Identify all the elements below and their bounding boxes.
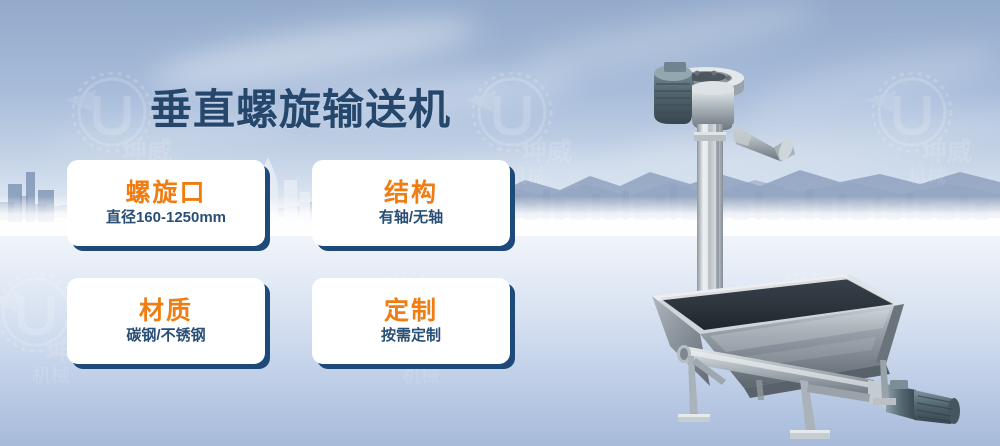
card-face: 定制 按需定制 [312, 278, 510, 364]
card-face: 结构 有轴/无轴 [312, 160, 510, 246]
feature-card[interactable]: 材质 碳钢/不锈钢 [67, 278, 265, 364]
feature-card[interactable]: 结构 有轴/无轴 [312, 160, 510, 246]
card-face: 材质 碳钢/不锈钢 [67, 278, 265, 364]
feature-card-grid: 螺旋口 直径160-1250mm 结构 有轴/无轴 材质 碳钢/不锈钢 定制 按… [67, 160, 527, 370]
feature-title: 螺旋口 [125, 180, 206, 208]
feature-title: 结构 [384, 180, 438, 208]
card-face: 螺旋口 直径160-1250mm [67, 160, 265, 246]
feature-title: 材质 [139, 298, 193, 326]
vertical-screw-tube [694, 124, 726, 314]
product-image [640, 28, 960, 440]
page-title: 垂直螺旋输送机 [150, 76, 451, 137]
product-banner: 坤威 机械 坤威 机械 [0, 0, 1000, 446]
feature-card[interactable]: 定制 按需定制 [312, 278, 510, 364]
feature-title: 定制 [384, 298, 438, 326]
feature-card[interactable]: 螺旋口 直径160-1250mm [67, 160, 265, 246]
feature-subtitle: 按需定制 [381, 328, 441, 345]
top-motor [654, 62, 744, 130]
feature-subtitle: 有轴/无轴 [379, 210, 443, 227]
feature-subtitle: 直径160-1250mm [106, 210, 226, 227]
feature-subtitle: 碳钢/不锈钢 [126, 328, 205, 345]
discharge-spout [732, 124, 796, 162]
